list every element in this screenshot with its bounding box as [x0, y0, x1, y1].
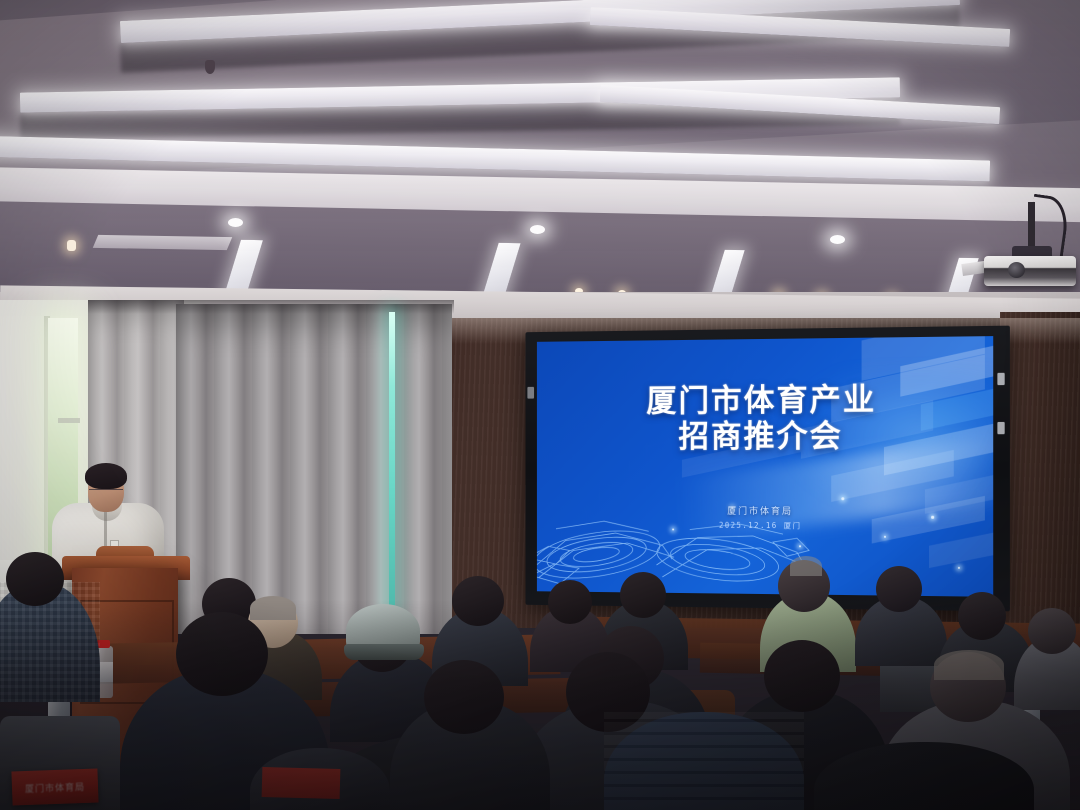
attendee-head [424, 660, 504, 734]
ceiling-downlight [830, 235, 845, 244]
accent-light-strip [389, 312, 395, 612]
attendee-head [6, 552, 64, 606]
attendee-hair-gray [250, 596, 296, 620]
wood-panel-wall-right [1000, 312, 1080, 632]
cap-brim [344, 644, 424, 660]
quilt-texture [604, 712, 804, 810]
attendee-head [958, 592, 1006, 640]
slide-sparkle [884, 536, 886, 538]
screen-bezel-button[interactable] [997, 373, 1004, 385]
speaker-glasses-icon [89, 489, 123, 495]
ceiling-projector [984, 256, 1076, 286]
attendee-hair-gray [934, 650, 1004, 680]
slide-title-line2: 招商推介会 [537, 418, 993, 456]
red-name-placard: 厦门市体育局 [11, 769, 98, 806]
attendee-head [876, 566, 922, 612]
attendee-head [548, 580, 592, 624]
attendee-head [176, 612, 268, 696]
screen-bezel-button[interactable] [527, 387, 534, 399]
attendee-head [1028, 608, 1076, 654]
attendee-head [620, 572, 666, 618]
wood-grain-texture [1000, 312, 1080, 632]
ceiling-sprinkler-icon [67, 240, 76, 251]
slide-title: 厦门市体育产业 招商推介会 [537, 381, 993, 456]
curtain-top-shadow [88, 300, 454, 314]
red-name-placard [262, 767, 341, 799]
smoke-detector-icon [205, 60, 215, 74]
screen-bezel-button[interactable] [997, 422, 1004, 434]
attendee-head [764, 640, 840, 712]
ceiling-downlight [530, 225, 545, 234]
projection-screen: 厦门市体育产业 招商推介会 厦门市体育局 2025.12.16 厦门 [537, 336, 993, 597]
slide-organizer: 厦门市体育局 [537, 503, 993, 518]
ceiling-downlight [228, 218, 243, 227]
slide-title-line1: 厦门市体育产业 [537, 381, 993, 420]
attendee-blue-quilted-jacket [604, 712, 804, 810]
slide-panel-shape [929, 531, 993, 568]
slide-sparkle [958, 567, 960, 569]
speaker-hair [85, 463, 127, 489]
window-mullion [58, 418, 80, 423]
slide-sparkle [841, 497, 844, 500]
attendee-head [452, 576, 504, 626]
conference-photo-scene: 厦门市体育产业 招商推介会 厦门市体育局 2025.12.16 厦门 [0, 0, 1080, 810]
attendee-hair-gray [790, 556, 822, 576]
air-vent [93, 235, 233, 250]
projection-screen-bezel: 厦门市体育产业 招商推介会 厦门市体育局 2025.12.16 厦门 [525, 326, 1009, 612]
projector-lens-icon [1008, 262, 1025, 278]
placard-label: 厦门市体育局 [25, 779, 85, 794]
